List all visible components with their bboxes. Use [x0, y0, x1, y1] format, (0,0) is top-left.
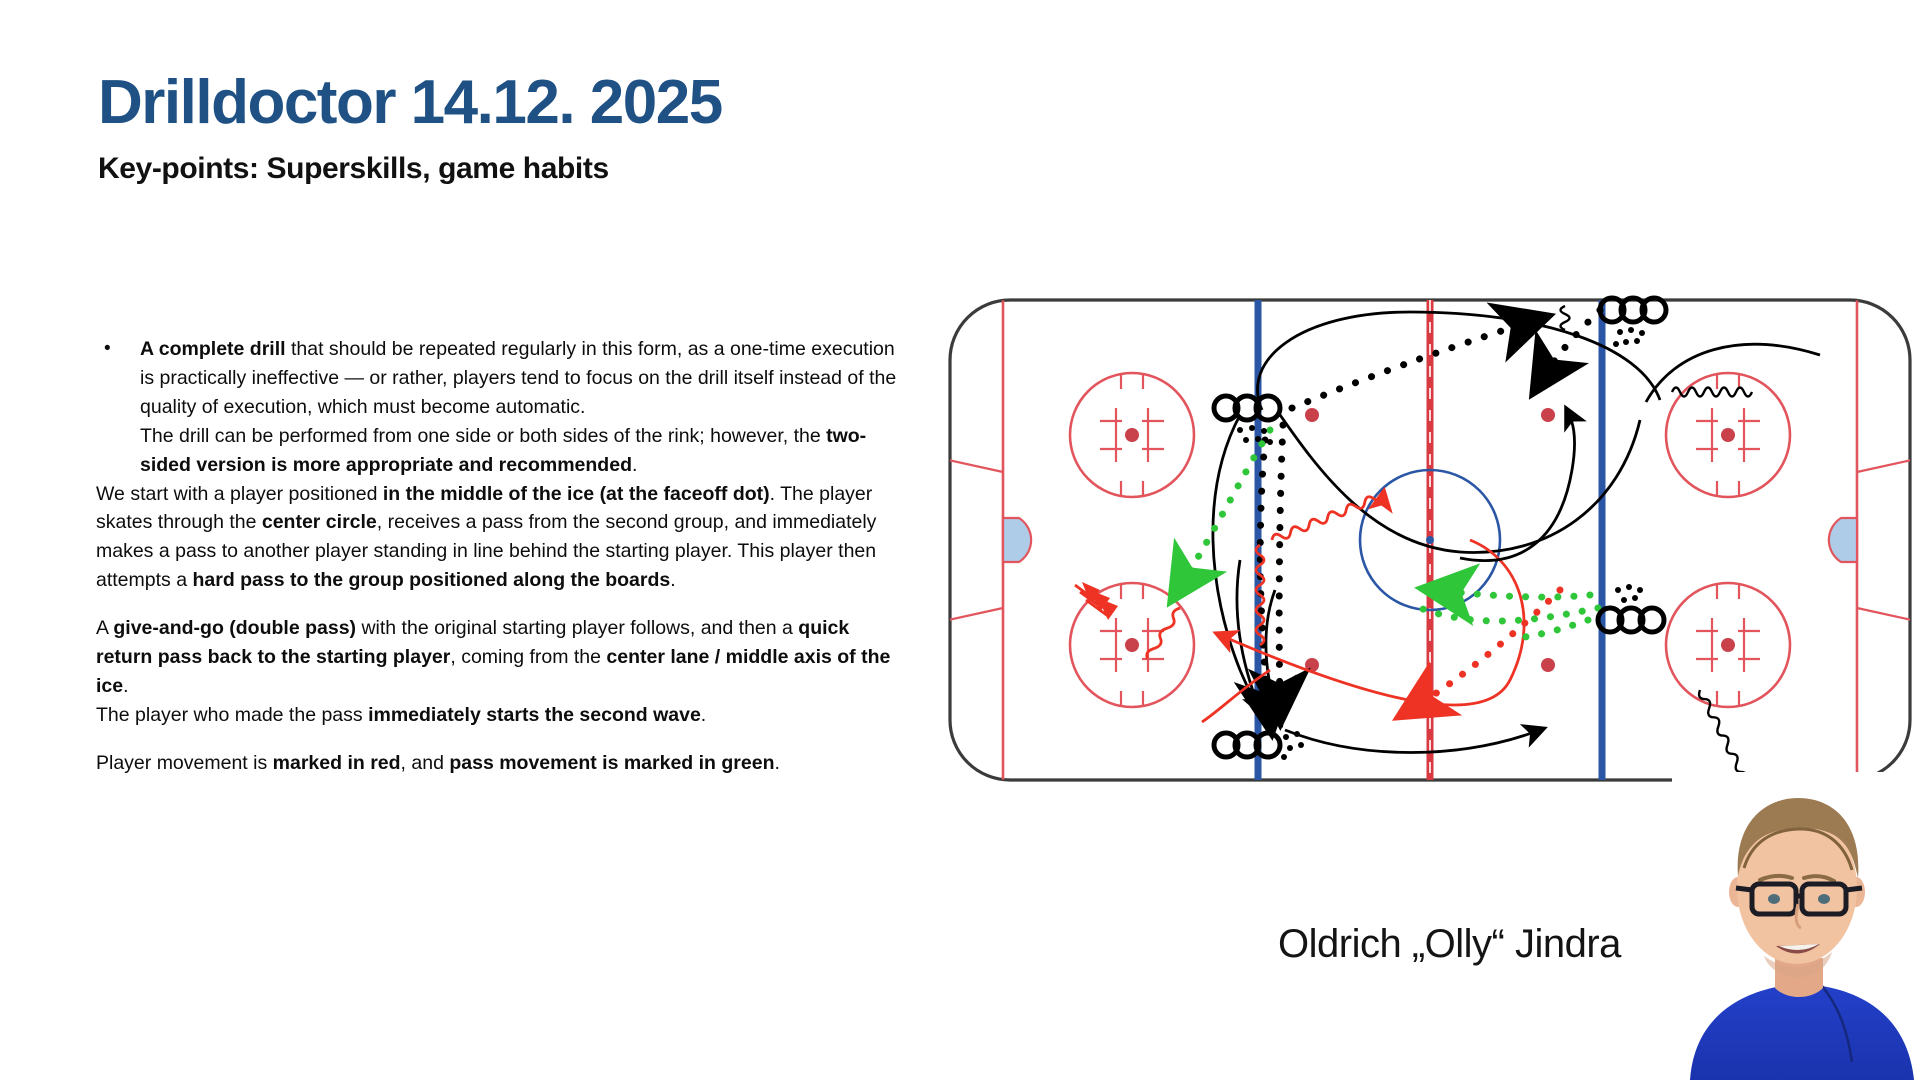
p4-a: Player movement is: [96, 752, 273, 774]
bullet-paragraph-1: A complete drill that should be repeated…: [140, 335, 906, 422]
p3-f: The player who made the pass: [96, 704, 368, 726]
bullet-marker: •: [96, 335, 140, 480]
p2-bold-3: hard pass to the group positioned along …: [192, 569, 670, 591]
paragraph-second-wave: The player who made the pass immediately…: [96, 701, 906, 730]
bullet-lead-bold: A complete drill: [140, 338, 286, 360]
eye-right: [1818, 894, 1830, 904]
page-title: Drilldoctor 14.12. 2025: [98, 72, 722, 134]
paragraph-start-position: We start with a player positioned in the…: [96, 480, 906, 596]
bullet-list-item: • A complete drill that should be repeat…: [96, 335, 906, 480]
bullet-paragraph-2: The drill can be performed from one side…: [140, 422, 906, 480]
p4-bold-1: marked in red: [273, 752, 401, 774]
hockey-rink-diagram: [940, 290, 1920, 790]
p2-a: We start with a player positioned: [96, 483, 383, 505]
page-subtitle: Key-points: Superskills, game habits: [98, 152, 722, 186]
p4-bold-2: pass movement is marked in green: [449, 752, 774, 774]
p3-c: with the original starting player follow…: [356, 617, 798, 639]
p3-a: A: [96, 617, 113, 639]
paragraph-give-and-go: A give-and-go (double pass) with the ori…: [96, 614, 906, 701]
bullet-line2-b: .: [632, 454, 637, 476]
paragraph-legend: Player movement is marked in red, and pa…: [96, 749, 906, 778]
p4-c: , and: [401, 752, 450, 774]
author-name: Oldrich „Olly“ Jindra: [1278, 922, 1621, 967]
paragraph-spacer: [96, 595, 906, 614]
bullet-line2-a: The drill can be performed from one side…: [140, 425, 826, 447]
eye-left: [1768, 894, 1780, 904]
slide-header: Drilldoctor 14.12. 2025 Key-points: Supe…: [98, 72, 722, 186]
author-portrait: [1672, 772, 1920, 1080]
bullet-item-text: A complete drill that should be repeated…: [140, 335, 906, 480]
p2-e: .: [670, 569, 675, 591]
paragraph-spacer-2: [96, 730, 906, 749]
p3-d: , coming from the: [450, 646, 606, 668]
p4-d: .: [774, 752, 779, 774]
p2-bold-1: in the middle of the ice (at the faceoff…: [383, 483, 770, 505]
p3-g: .: [701, 704, 706, 726]
drill-description-text: • A complete drill that should be repeat…: [96, 335, 906, 778]
p3-bold-1: give-and-go (double pass): [113, 617, 356, 639]
p2-bold-2: center circle: [262, 511, 377, 533]
p3-e: .: [123, 675, 128, 697]
p3-bold-4: immediately starts the second wave: [368, 704, 701, 726]
